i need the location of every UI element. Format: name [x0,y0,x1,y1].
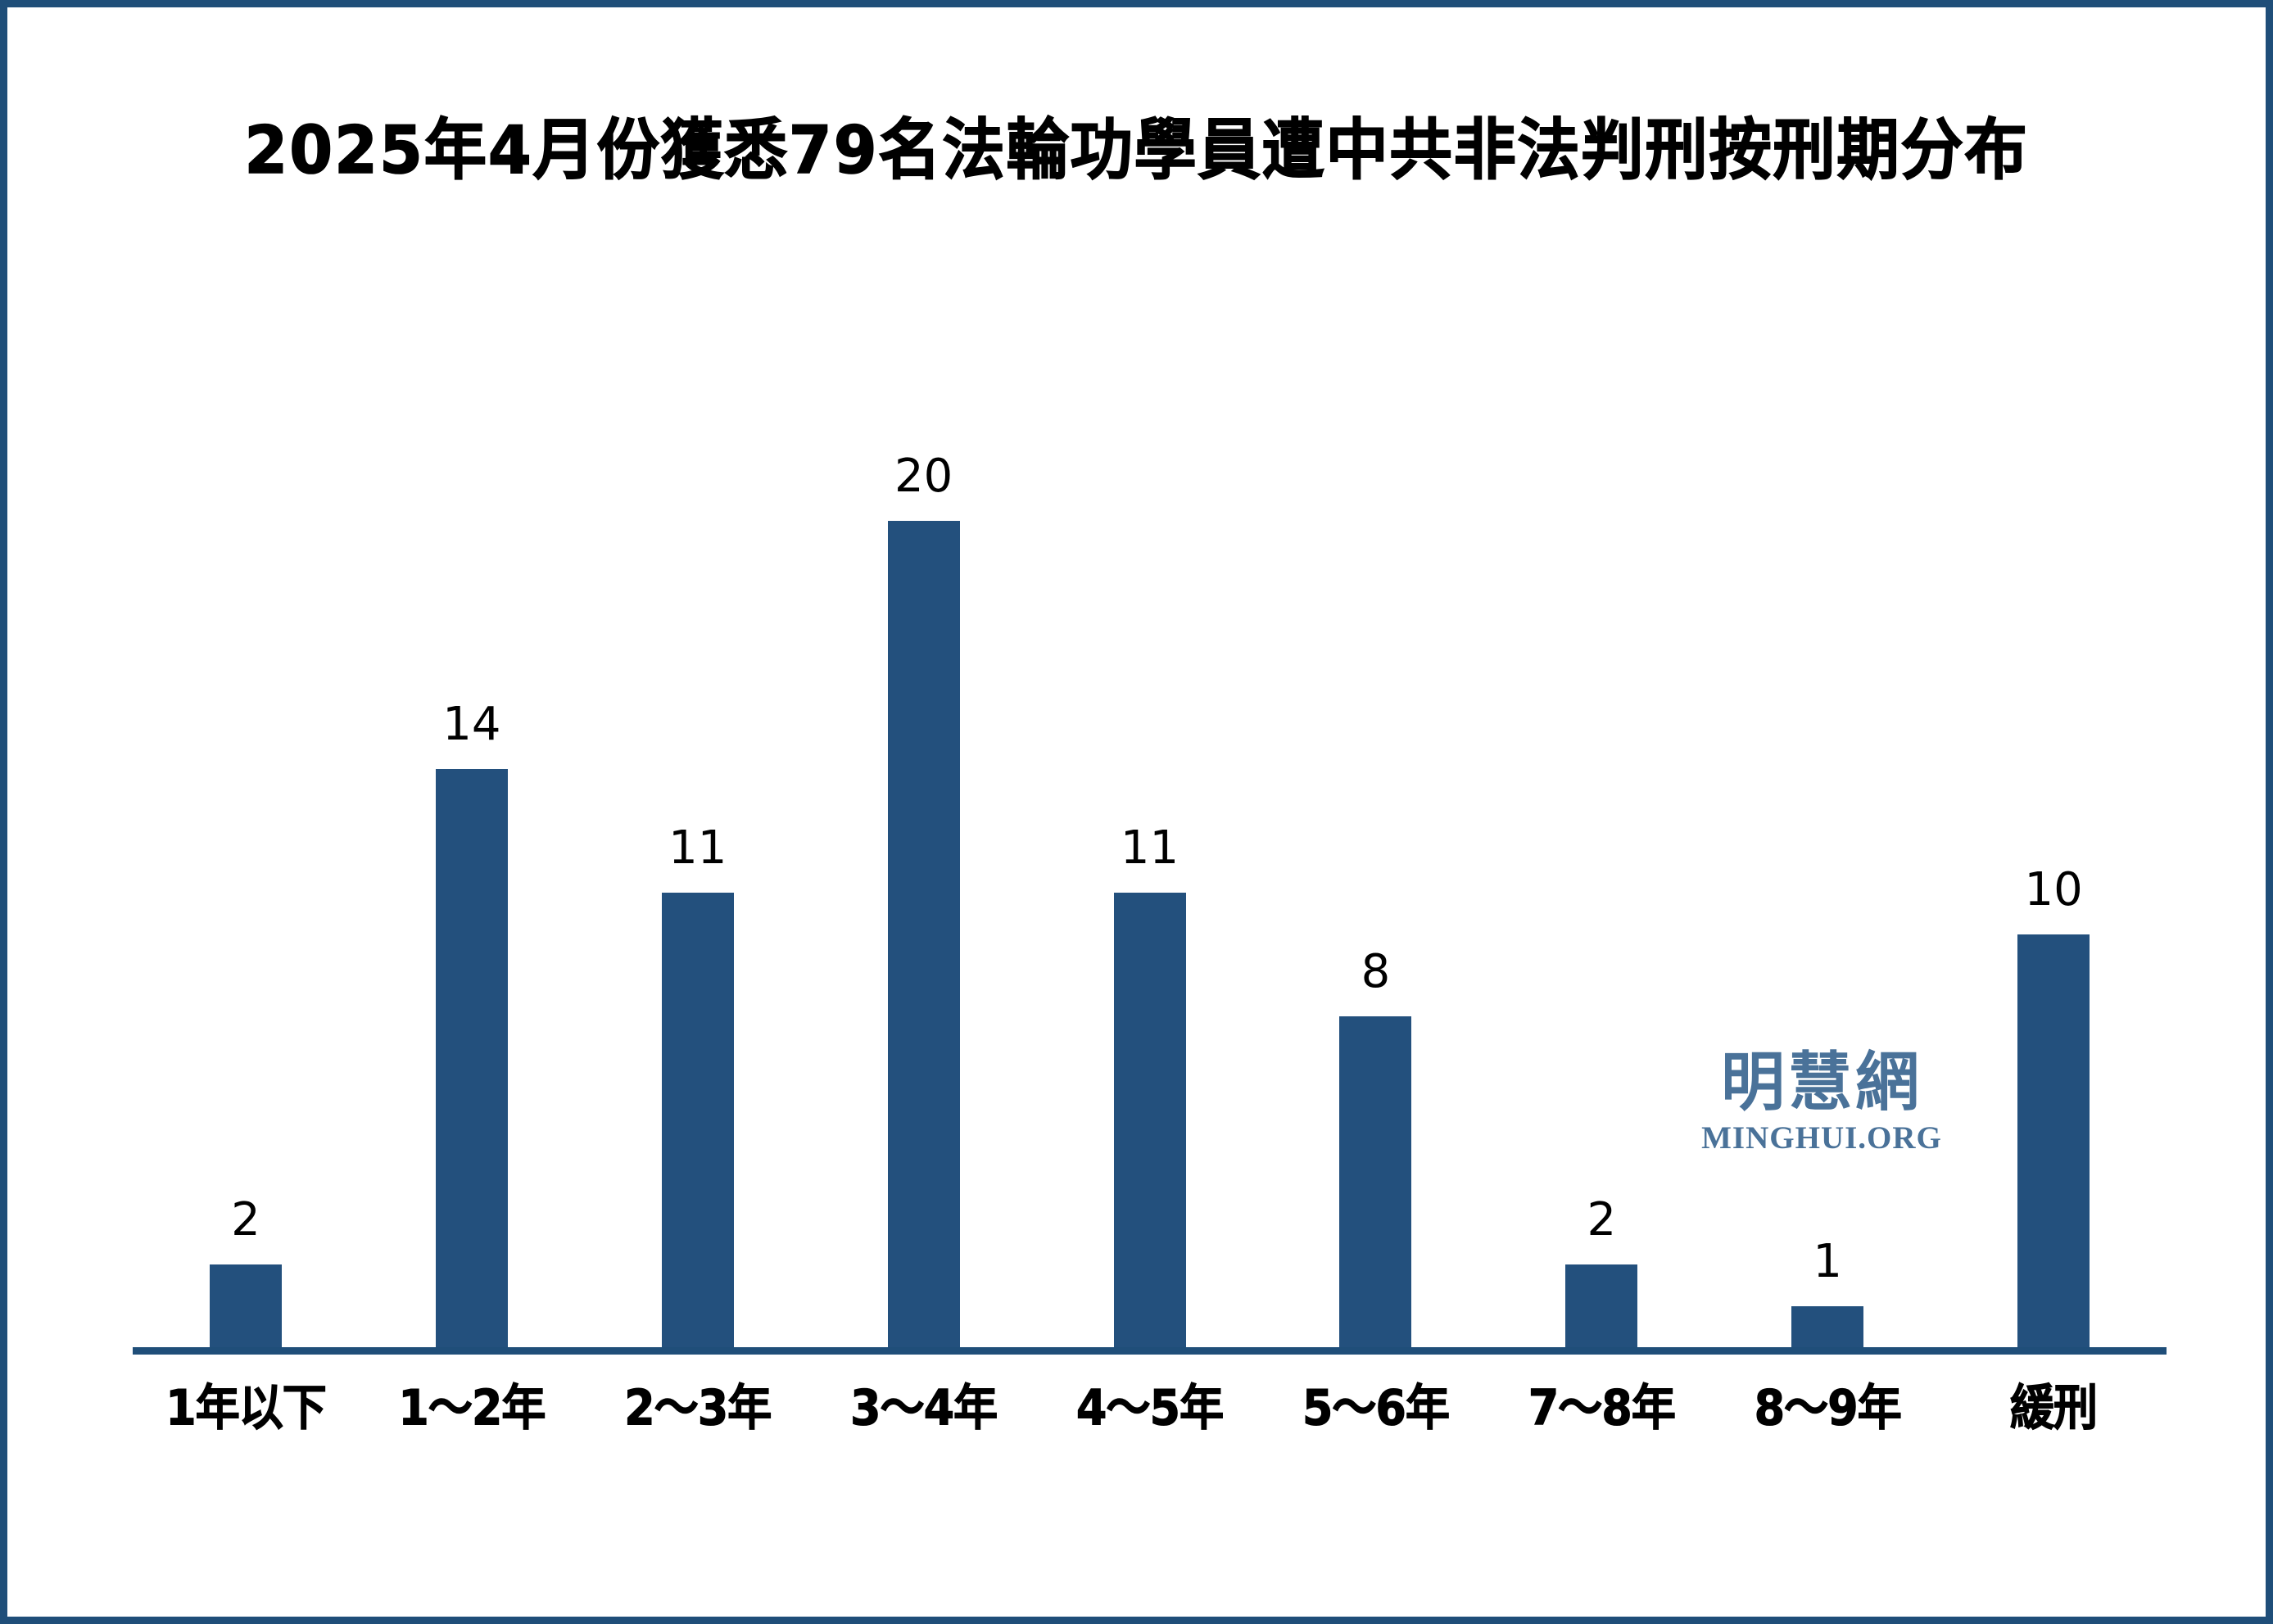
x-tick-8: 緩刑 [1940,1371,2167,1436]
bar-rect[interactable] [888,521,960,1347]
x-tick-3: 3～4年 [811,1371,1037,1436]
bar-rect[interactable] [1339,1016,1411,1347]
x-tick-label: 5～6年 [1302,1368,1449,1439]
x-axis-category-labels: 1年以下 1～2年 2～3年 3～4年 4～5年 5～6年 7～8年 8～9年 … [133,1371,2167,1436]
bar-value-label: 2 [231,1197,260,1243]
x-tick-label: 緩刑 [2010,1368,2097,1439]
bar-rect[interactable] [1565,1264,1637,1347]
x-tick-2: 2～3年 [585,1371,811,1436]
bar-value-label: 14 [442,702,500,748]
chart-title: 2025年4月份獲悉79名法輪功學員遭中共非法判刑按刑期分布 [7,97,2266,192]
bar-value-label: 11 [1121,826,1179,871]
bar-value-label: 11 [668,826,727,871]
bar-value-label: 2 [1587,1197,1616,1243]
watermark-english-text: MINGHUI.ORG [1691,1120,1953,1156]
x-tick-label: 3～4年 [850,1368,997,1439]
bar-group-1[interactable]: 14 [359,253,585,1347]
bar-group-0[interactable]: 2 [133,253,359,1347]
bar-group-3[interactable]: 20 [811,253,1037,1347]
bar-group-5[interactable]: 8 [1262,253,1488,1347]
bar-value-label: 1 [1813,1239,1842,1285]
x-tick-label: 2～3年 [624,1368,771,1439]
x-tick-5: 5～6年 [1262,1371,1488,1436]
plot-area: 2 14 11 20 11 8 [133,253,2167,1355]
chart-frame: 2025年4月份獲悉79名法輪功學員遭中共非法判刑按刑期分布 2 14 11 2… [0,0,2273,1624]
x-tick-0: 1年以下 [133,1371,359,1436]
bar-rect[interactable] [2017,934,2090,1348]
bar-rect[interactable] [1791,1306,1863,1347]
bar-group-6[interactable]: 2 [1488,253,1714,1347]
x-tick-label: 1年以下 [165,1368,326,1439]
x-tick-6: 7～8年 [1488,1371,1714,1436]
x-tick-4: 4～5年 [1037,1371,1263,1436]
bar-group-2[interactable]: 11 [585,253,811,1347]
watermark-chinese-text: 明慧網 [1691,1049,1953,1116]
bar-group-7[interactable]: 1 [1714,253,1940,1347]
bar-rect[interactable] [662,893,734,1347]
x-tick-label: 1～2年 [398,1368,545,1439]
bar-value-label: 8 [1361,949,1391,995]
x-tick-label: 4～5年 [1076,1368,1223,1439]
bar-group-4[interactable]: 11 [1037,253,1263,1347]
x-tick-label: 7～8年 [1528,1368,1675,1439]
bar-value-label: 20 [894,454,953,500]
bar-value-label: 10 [2024,867,2082,913]
bar-rect[interactable] [436,769,508,1347]
x-tick-7: 8～9年 [1714,1371,1940,1436]
minghui-watermark: 明慧網 MINGHUI.ORG [1691,1049,1953,1156]
x-tick-1: 1～2年 [359,1371,585,1436]
bar-rect[interactable] [210,1264,282,1347]
bar-group-8[interactable]: 10 [1940,253,2167,1347]
x-axis-line [133,1347,2167,1355]
bar-series: 2 14 11 20 11 8 [133,253,2167,1347]
bar-rect[interactable] [1114,893,1186,1347]
x-tick-label: 8～9年 [1755,1368,1901,1439]
